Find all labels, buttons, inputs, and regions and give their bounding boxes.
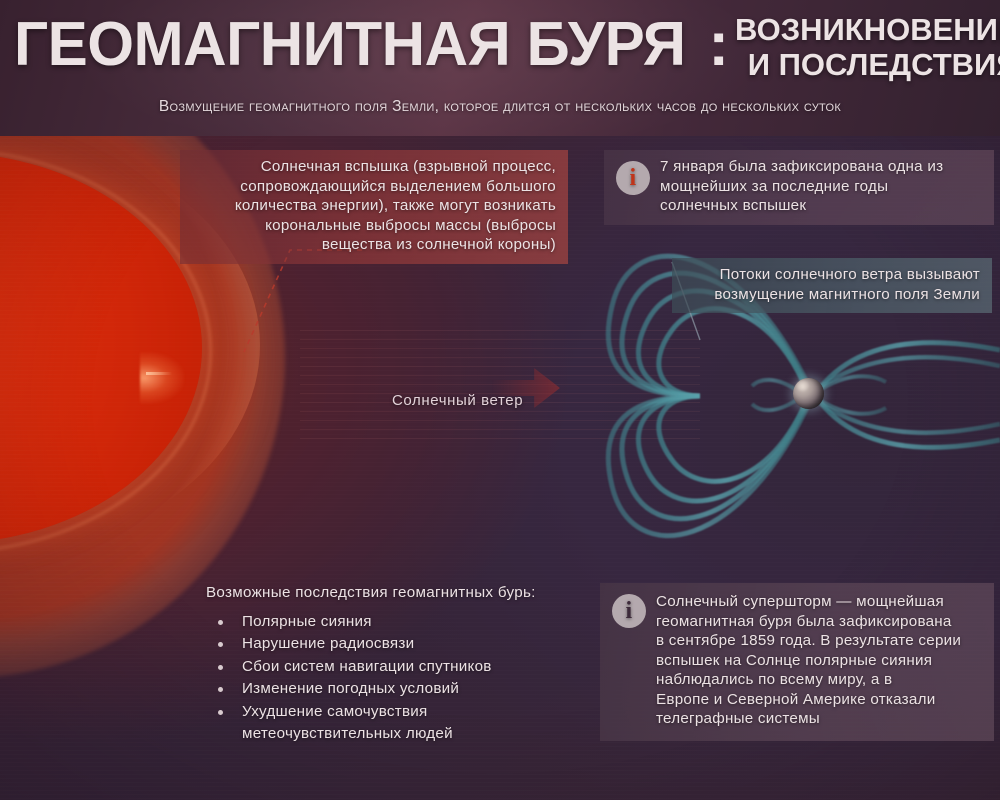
callout-info-january-flare: i 7 января была зафиксирована одна из мо… [604,150,994,225]
callout-line: Солнечная вспышка (взрывной процесс, [192,157,556,177]
callout-line: Солнечный супершторм — мощнейшая [656,592,982,612]
info-icon: i [616,161,650,195]
list-item: Сбои систем навигации спутников [206,657,566,677]
callout-line: мощнейших за последние годы [660,177,982,197]
callout-line: корональные выбросы массы (выбросы [192,216,556,236]
callout-line: солнечных вспышек [660,196,982,216]
title-sub-line2: И ПОСЛЕДСТВИЯ [735,47,1000,82]
callout-line: телеграфные системы [656,709,982,729]
consequences-title: Возможные последствия геомагнитных бурь: [206,583,566,603]
callout-line: в сентябре 1859 года. В результате серии [656,631,982,651]
callout-line: 7 января была зафиксирована одна из [660,157,982,177]
title-colon: : [708,14,729,76]
list-item: Ухудшение самочувствия [206,702,566,722]
consequences-list: Полярные сияния Нарушение радиосвязи Сбо… [206,612,566,722]
title-subparts: ВОЗНИКНОВЕНИЕ И ПОСЛЕДСТВИЯ [735,12,1000,82]
title-sub-line1: ВОЗНИКНОВЕНИЕ [735,12,1000,47]
callout-line: Европе и Северной Америке отказали [656,690,982,710]
list-item: Полярные сияния [206,612,566,632]
callout-line: наблюдались по всему миру, а в [656,670,982,690]
list-item: Нарушение радиосвязи [206,634,566,654]
callout-info-superstorm-1859: i Солнечный супершторм — мощнейшая геома… [600,583,994,741]
callout-line: вспышек на Солнце полярные сияния [656,651,982,671]
callout-solar-wind: Потоки солнечного ветра вызывают возмуще… [672,258,992,313]
callout-line: сопровождающийся выделением большого [192,177,556,197]
consequences-block: Возможные последствия геомагнитных бурь:… [206,583,566,744]
callout-line: Потоки солнечного ветра вызывают [684,265,980,285]
callout-line: вещества из солнечной короны) [192,235,556,255]
callout-line: количества энергии), также могут возника… [192,196,556,216]
header-subtitle: Возмущение геомагнитного поля Земли, кот… [0,98,1000,116]
callout-line: геомагнитная буря была зафиксирована [656,612,982,632]
callout-solar-flare: Солнечная вспышка (взрывной процесс, соп… [180,150,568,264]
page-title: ГЕОМАГНИТНАЯ БУРЯ : ВОЗНИКНОВЕНИЕ И ПОСЛ… [14,14,986,88]
title-main: ГЕОМАГНИТНАЯ БУРЯ [14,14,686,76]
list-item-continuation: метеочувствительных людей [206,724,566,744]
infographic-canvas: Солнечный ветер [0,0,1000,800]
callout-line: возмущение магнитного поля Земли [684,285,980,305]
info-icon: i [612,594,646,628]
list-item: Изменение погодных условий [206,679,566,699]
